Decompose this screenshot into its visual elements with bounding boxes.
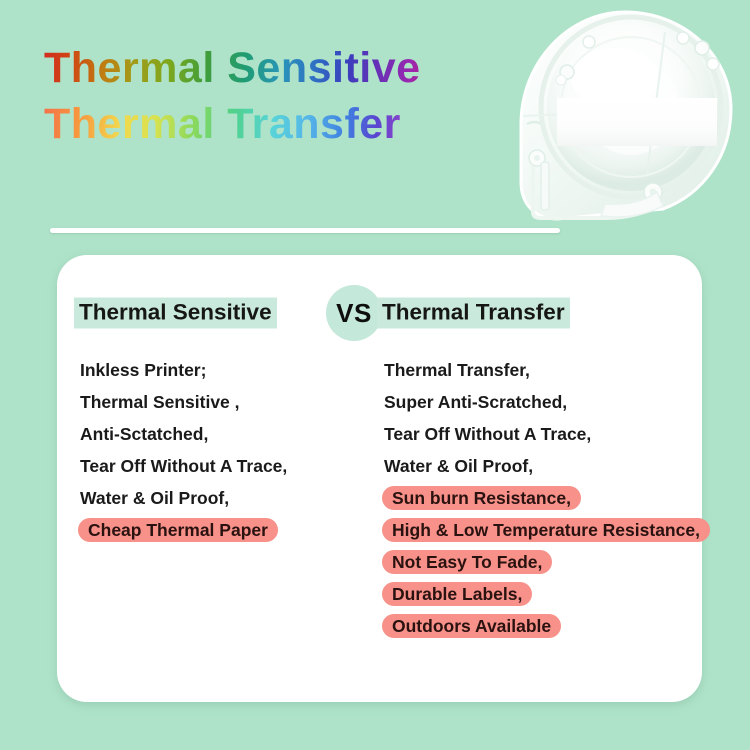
column-header-thermal-transfer: Thermal Transfer xyxy=(377,298,570,329)
comparison-headers-row: Thermal Sensitive VS Thermal Transfer xyxy=(57,255,702,347)
horizontal-divider xyxy=(50,228,560,233)
feature-item: Water & Oil Proof, xyxy=(382,454,535,478)
feature-row: Tear Off Without A Trace, xyxy=(382,422,694,454)
column-header-thermal-sensitive: Thermal Sensitive xyxy=(74,298,277,329)
feature-column-thermal-transfer: Thermal Transfer, Super Anti-Scratched, … xyxy=(382,358,694,646)
feature-row: Cheap Thermal Paper xyxy=(78,518,368,550)
feature-item: Thermal Transfer, xyxy=(382,358,532,382)
feature-item-highlighted: Sun burn Resistance, xyxy=(382,486,581,510)
comparison-card: Thermal Sensitive VS Thermal Transfer In… xyxy=(57,255,702,702)
feature-item-highlighted: Durable Labels, xyxy=(382,582,532,606)
feature-item-highlighted: Cheap Thermal Paper xyxy=(78,518,278,542)
feature-item: Anti-Sctatched, xyxy=(78,422,210,446)
vs-badge: VS xyxy=(326,285,382,341)
feature-row: Thermal Transfer, xyxy=(382,358,694,390)
title-line-thermal-sensitive: Thermal Sensitive xyxy=(44,40,474,96)
feature-row: Outdoors Available xyxy=(382,614,694,646)
label-tape-cartridge-photo xyxy=(497,6,750,234)
feature-row: Anti-Sctatched, xyxy=(78,422,368,454)
feature-item: Water & Oil Proof, xyxy=(78,486,231,510)
feature-column-thermal-sensitive: Inkless Printer; Thermal Sensitive , Ant… xyxy=(78,358,368,550)
infographic-root: Thermal Sensitive Thermal Transfer xyxy=(0,0,750,750)
feature-row: Water & Oil Proof, xyxy=(78,486,368,518)
feature-item: Tear Off Without A Trace, xyxy=(78,454,289,478)
feature-item-highlighted: Not Easy To Fade, xyxy=(382,550,552,574)
feature-row: Sun burn Resistance, xyxy=(382,486,694,518)
feature-row: Not Easy To Fade, xyxy=(382,550,694,582)
feature-row: Super Anti-Scratched, xyxy=(382,390,694,422)
feature-item: Inkless Printer; xyxy=(78,358,208,382)
feature-item: Super Anti-Scratched, xyxy=(382,390,569,414)
feature-item-highlighted: Outdoors Available xyxy=(382,614,561,638)
feature-item: Tear Off Without A Trace, xyxy=(382,422,593,446)
feature-row: Tear Off Without A Trace, xyxy=(78,454,368,486)
feature-item-highlighted: High & Low Temperature Resistance, xyxy=(382,518,710,542)
feature-row: Durable Labels, xyxy=(382,582,694,614)
feature-row: High & Low Temperature Resistance, xyxy=(382,518,694,550)
feature-row: Water & Oil Proof, xyxy=(382,454,694,486)
feature-item: Thermal Sensitive , xyxy=(78,390,242,414)
feature-row: Inkless Printer; xyxy=(78,358,368,390)
feature-row: Thermal Sensitive , xyxy=(78,390,368,422)
title-block: Thermal Sensitive Thermal Transfer xyxy=(44,40,474,152)
title-line-thermal-transfer: Thermal Transfer xyxy=(44,96,474,152)
vs-badge-label: VS xyxy=(336,300,372,326)
